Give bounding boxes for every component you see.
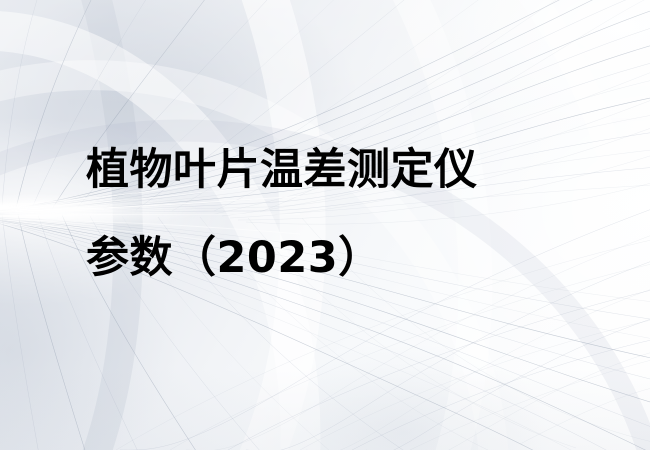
slide-title-block: 植物叶片温差测定仪 参数（2023） bbox=[86, 126, 606, 302]
slide-canvas: 植物叶片温差测定仪 参数（2023） bbox=[0, 0, 650, 450]
slide-title-line-2: 参数（2023） bbox=[86, 214, 606, 302]
slide-title-line-1: 植物叶片温差测定仪 bbox=[86, 126, 606, 214]
